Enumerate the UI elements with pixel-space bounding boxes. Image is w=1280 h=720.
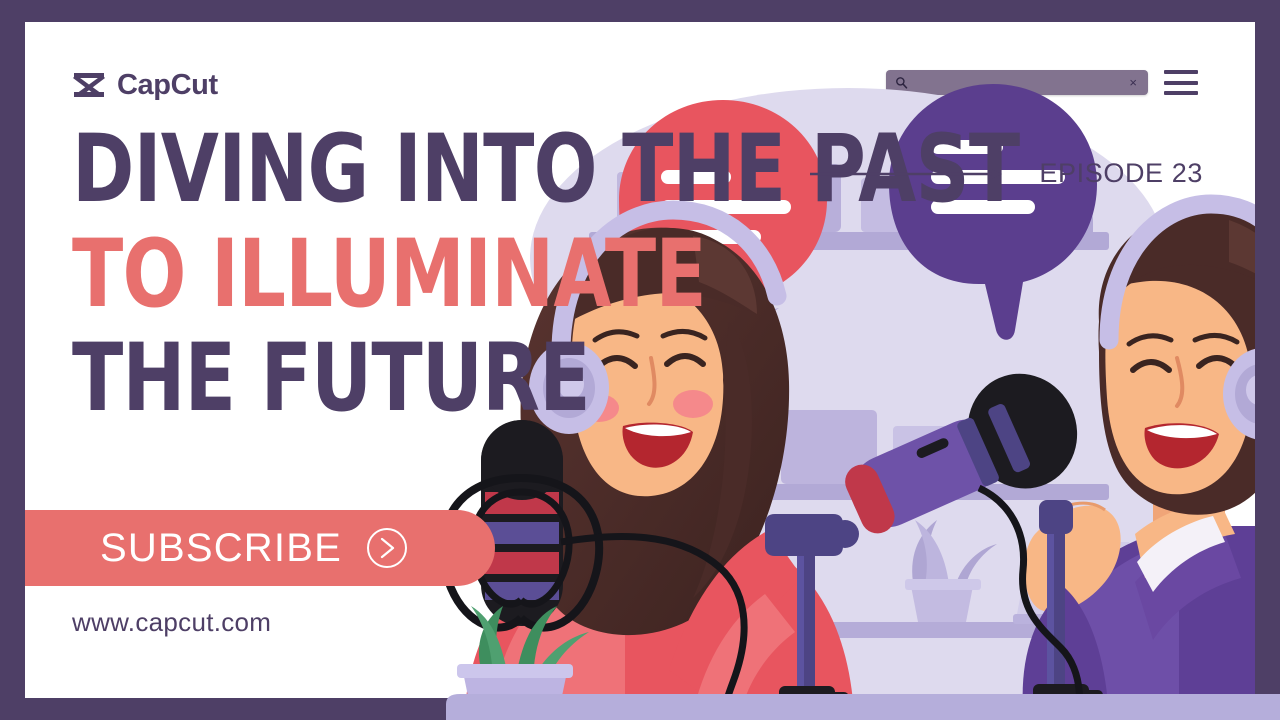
subscribe-button[interactable]: SUBSCRIBE	[25, 510, 495, 586]
headline-line-2: TO ILLUMINATE	[72, 231, 704, 318]
arrow-right-icon	[810, 168, 1005, 180]
headline-block: DIVING INTO THE PAST TO ILLUMINATE THE F…	[72, 126, 862, 422]
subscribe-label: SUBSCRIBE	[100, 526, 342, 571]
episode-indicator: EPISODE 23	[810, 158, 1203, 189]
website-url[interactable]: www.capcut.com	[72, 607, 271, 638]
desk-plinth	[430, 694, 1280, 720]
podcast-cover-poster: CapCut × DIVING INTO THE PAST TO ILLUMIN…	[0, 0, 1280, 720]
poster-card: CapCut × DIVING INTO THE PAST TO ILLUMIN…	[25, 22, 1255, 698]
brand-name: CapCut	[117, 71, 218, 100]
episode-label: EPISODE 23	[1039, 158, 1203, 189]
brand-logo[interactable]: CapCut	[72, 70, 218, 100]
headline-line-3: THE FUTURE	[72, 335, 704, 422]
capcut-logo-icon	[72, 70, 106, 100]
headline-line-1: DIVING INTO THE PAST	[72, 126, 704, 213]
play-circle-icon[interactable]	[366, 527, 408, 569]
